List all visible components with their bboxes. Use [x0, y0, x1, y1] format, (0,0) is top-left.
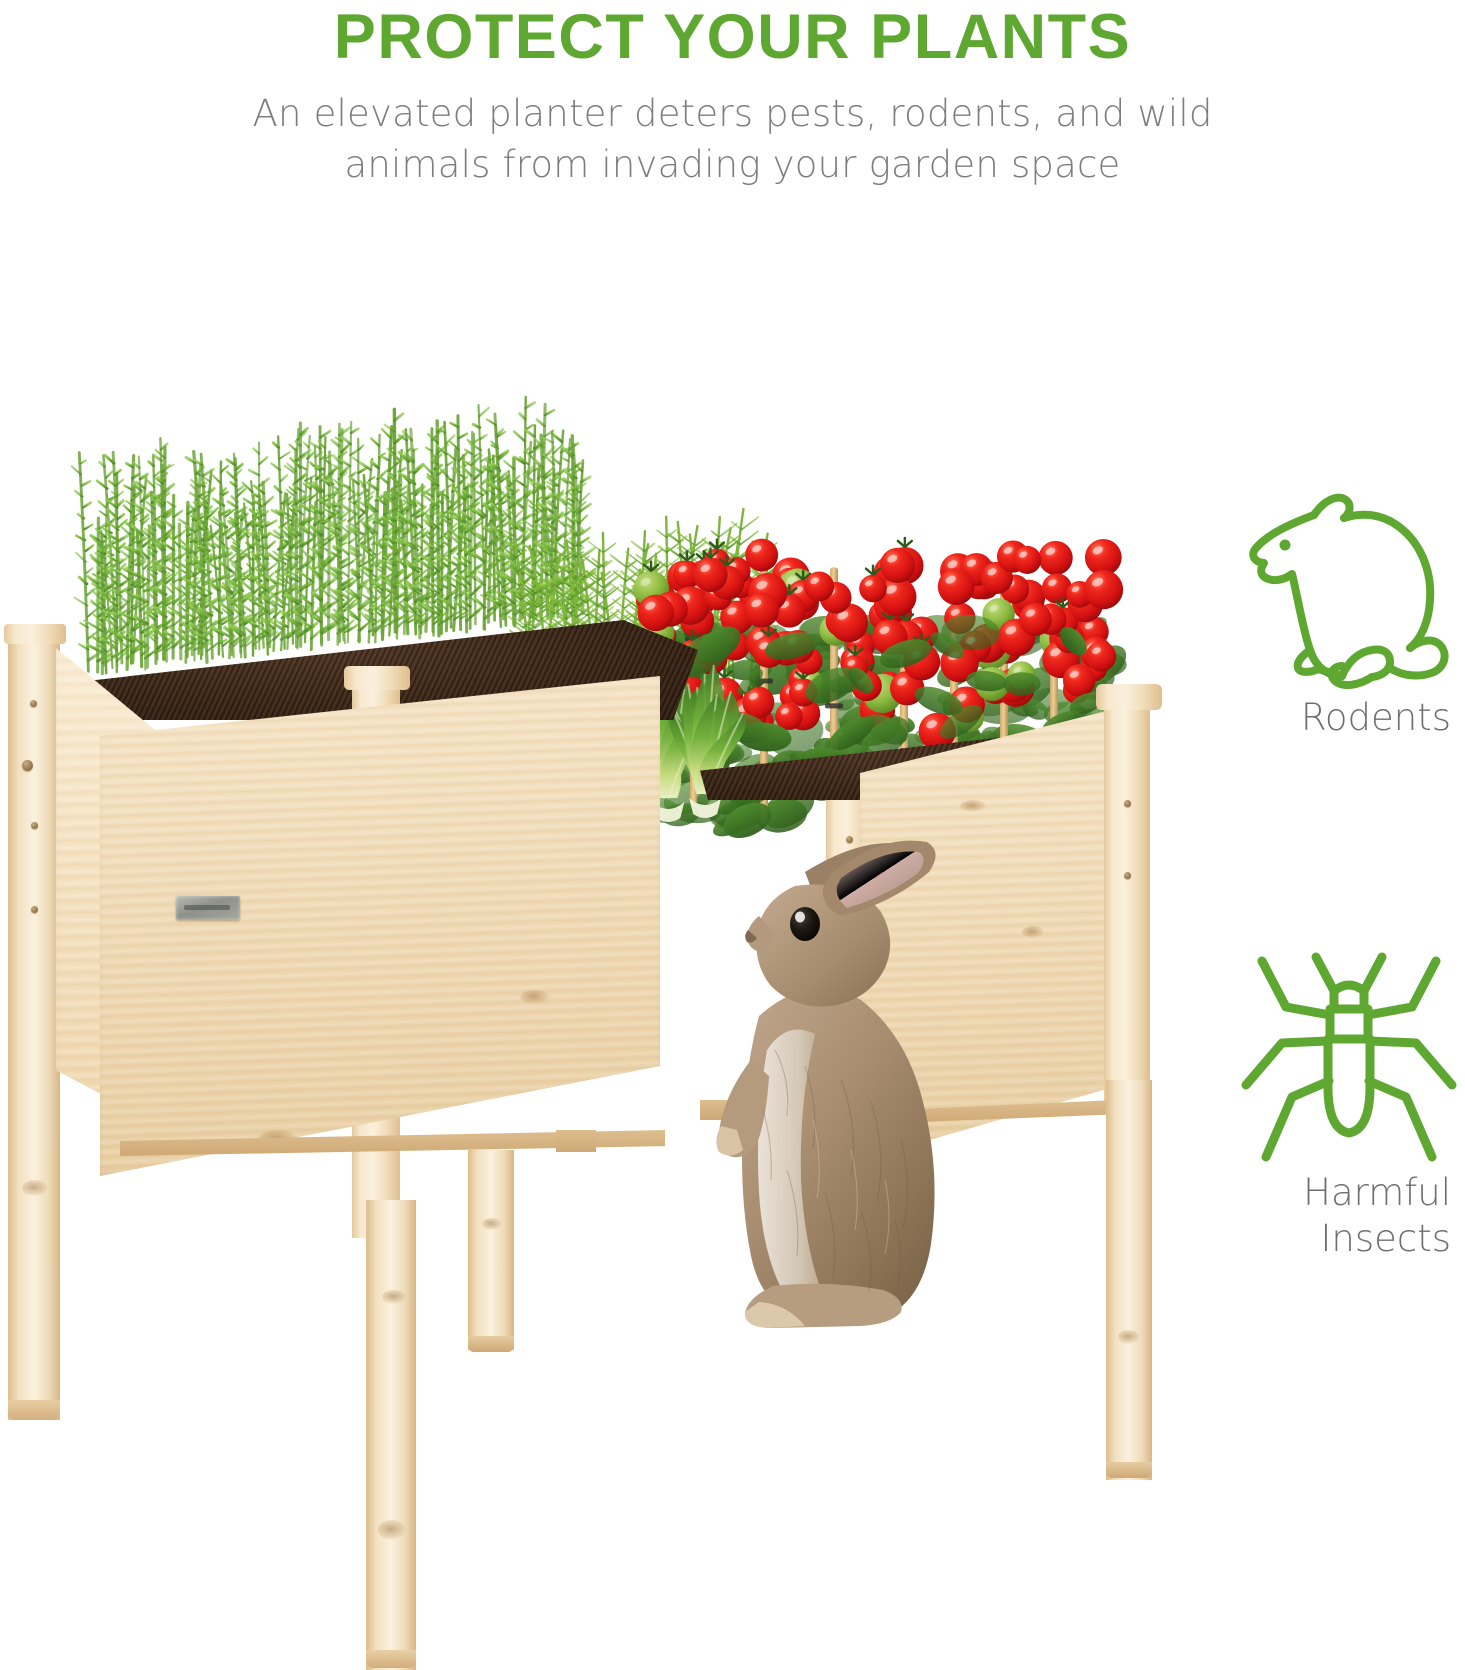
- wood-knot: [1118, 1330, 1140, 1344]
- rodent-eye: [1280, 540, 1291, 551]
- screw: [1124, 872, 1131, 879]
- subtitle-line-1: An elevated planter deters pests, rodent…: [0, 88, 1465, 139]
- product-stage: Rodents: [0, 200, 1465, 1500]
- wood-knot: [382, 1290, 406, 1304]
- insect-icon: [1230, 945, 1465, 1170]
- planter-product: [0, 200, 1230, 1500]
- feature-label-line-1: Rodents: [1230, 695, 1451, 741]
- screw: [22, 760, 33, 771]
- leg-foot-back-middle: [468, 1336, 514, 1352]
- leg-front-left: [366, 1200, 416, 1670]
- post-cap-front-right: [1096, 684, 1162, 710]
- feature-rodents: Rodents: [1230, 480, 1465, 741]
- rabbit: [655, 820, 995, 1340]
- leg-back-middle: [468, 1150, 514, 1350]
- wood-knot: [22, 1180, 48, 1196]
- post-front-right: [1104, 700, 1150, 1110]
- brand-plate-engraving: [184, 905, 230, 910]
- support-cleat: [556, 1130, 596, 1152]
- brand-plate: [176, 896, 240, 920]
- wood-knot: [1022, 926, 1044, 938]
- wood-knot: [482, 1218, 502, 1230]
- post-cap-front-left: [344, 666, 410, 690]
- features-column: Rodents: [1230, 200, 1465, 1500]
- screw: [1124, 800, 1131, 807]
- feature-label-line-2: Insects: [1230, 1216, 1451, 1262]
- leg-back-left: [8, 630, 60, 1420]
- rabbit-eye: [790, 907, 820, 941]
- rodent-icon: [1230, 480, 1465, 695]
- wood-knot: [378, 1520, 406, 1540]
- page-title: PROTECT YOUR PLANTS: [0, 0, 1465, 70]
- wood-knot: [520, 990, 550, 1004]
- leg-foot-back-left: [8, 1400, 60, 1420]
- screw: [31, 906, 38, 913]
- screw: [31, 822, 38, 829]
- feature-label-insects: Harmful Insects: [1230, 1170, 1465, 1263]
- feature-label-rodents: Rodents: [1230, 695, 1465, 741]
- header-block: PROTECT YOUR PLANTS An elevated planter …: [0, 0, 1465, 190]
- page-subtitle: An elevated planter deters pests, rodent…: [0, 88, 1465, 190]
- post-cap-back-left: [4, 624, 66, 644]
- rabbit-eye-highlight: [795, 912, 805, 923]
- leg-foot-front-right: [1106, 1462, 1152, 1478]
- screw: [30, 700, 37, 707]
- leg-foot-front-left: [366, 1650, 416, 1668]
- feature-insects: Harmful Insects: [1230, 945, 1465, 1263]
- feature-label-line-1: Harmful: [1230, 1170, 1451, 1216]
- wood-knot: [960, 800, 986, 812]
- leg-front-right: [1106, 1080, 1152, 1480]
- subtitle-line-2: animals from invading your garden space: [0, 139, 1465, 190]
